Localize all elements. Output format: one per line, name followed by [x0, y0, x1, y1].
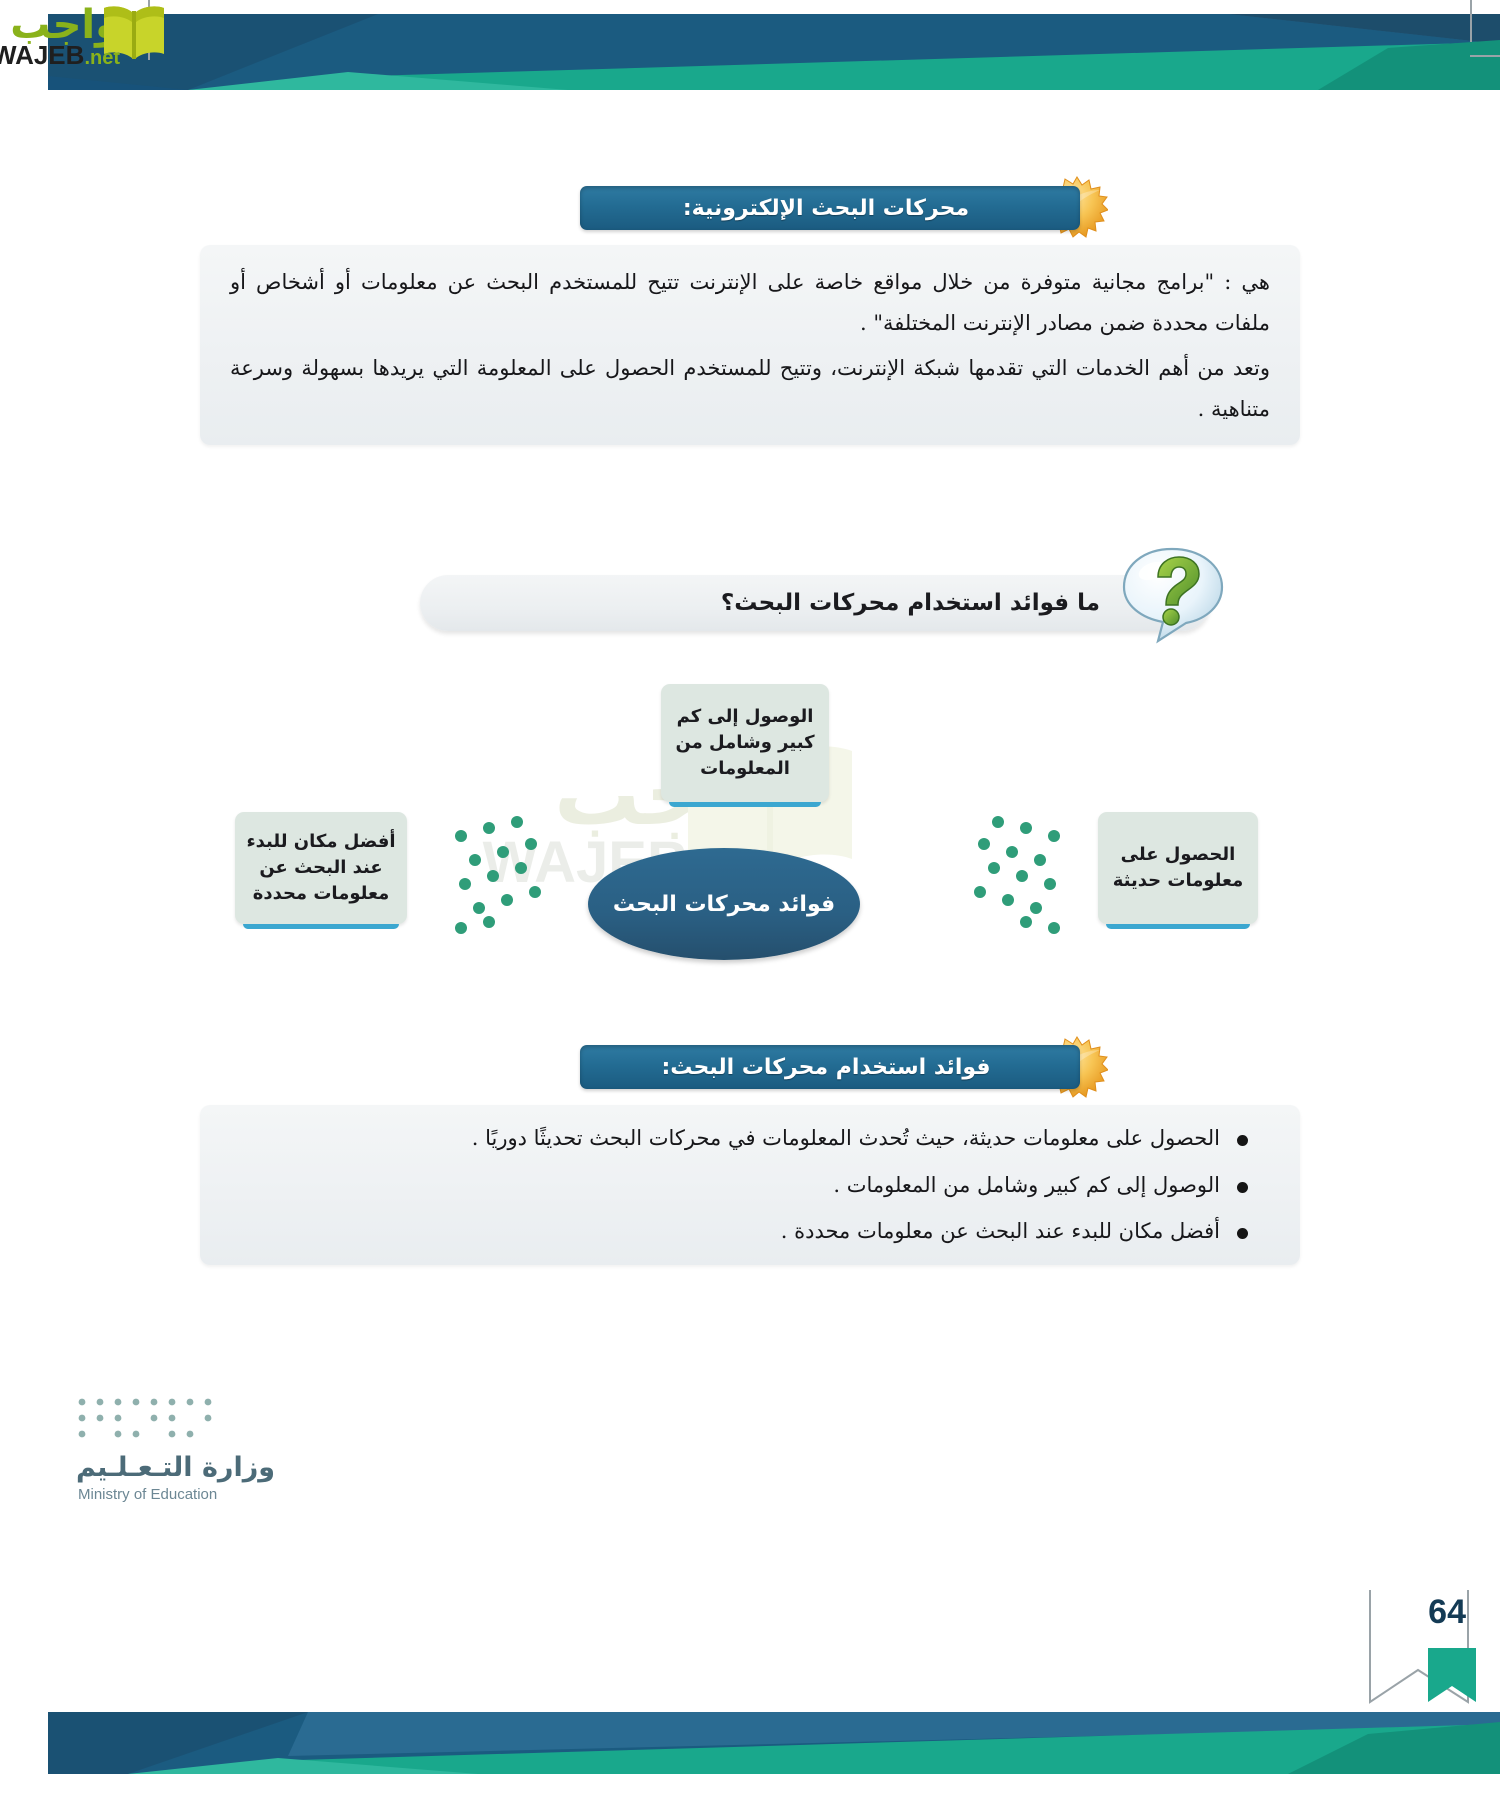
section-title-banner-2: فوائد استخدام محركات البحث: [580, 1045, 1080, 1089]
diagram-center-node: فوائد محركات البحث [588, 848, 860, 960]
section-title-1: محركات البحث الإلكترونية: [683, 196, 969, 221]
footer-left-margin [0, 1680, 48, 1800]
question-text: ما فوائد استخدام محركات البحث؟ [721, 590, 1100, 616]
question-balloon-icon [1114, 541, 1230, 647]
list-item: الوصول إلى كم كبير وشامل من المعلومات . [254, 1169, 1254, 1202]
diagram-node-right: الحصول على معلومات حديثة [1098, 812, 1258, 924]
page-header-band: واجب WAJEB.net [0, 0, 1500, 96]
section-title-2: فوائد استخدام محركات البحث: [661, 1055, 990, 1080]
benefits-diagram: الوصول إلى كم كبير وشامل من المعلومات ال… [250, 700, 1250, 1030]
crop-mark-top-right-vertical [1470, 0, 1472, 42]
section-title-banner-1: محركات البحث الإلكترونية: [580, 186, 1080, 230]
diagram-node-left: أفضل مكان للبدء عند البحث عن معلومات محد… [235, 812, 407, 924]
diagram-center-label: فوائد محركات البحث [613, 892, 835, 917]
ministry-of-education-logo: وزارة التـعـلـيم Ministry of Education [72, 1394, 312, 1514]
footer-shapes [48, 1712, 1500, 1774]
list-item: أفضل مكان للبدء عند البحث عن معلومات محد… [254, 1215, 1254, 1248]
dot-connector-right [910, 810, 1070, 940]
header-shapes [48, 14, 1500, 90]
page-footer-band [0, 1680, 1500, 1800]
ministry-name-english: Ministry of Education [78, 1486, 217, 1503]
dot-connector-left [445, 810, 605, 940]
ministry-name-arabic: وزارة التـعـلـيم [76, 1452, 275, 1483]
crop-mark-top-right [1470, 55, 1500, 57]
header-graphic [48, 14, 1500, 90]
footer-graphic [48, 1712, 1500, 1774]
benefits-list: الحصول على معلومات حديثة، حيث تُحدث المع… [254, 1122, 1254, 1262]
question-bar: ما فوائد استخدام محركات البحث؟ [420, 575, 1210, 631]
question-callout: ما فوائد استخدام محركات البحث؟ [420, 575, 1210, 643]
open-book-icon [98, 2, 170, 66]
definition-paragraph-1: هي : "برامج مجانية متوفرة من خلال مواقع … [230, 262, 1270, 344]
definition-paragraph-2: وتعد من أهم الخدمات التي تقدمها شبكة الإ… [230, 348, 1270, 430]
diagram-node-top: الوصول إلى كم كبير وشامل من المعلومات [661, 684, 829, 802]
list-item: الحصول على معلومات حديثة، حيث تُحدث المع… [254, 1122, 1254, 1155]
moe-dot-pattern-icon [76, 1394, 226, 1446]
